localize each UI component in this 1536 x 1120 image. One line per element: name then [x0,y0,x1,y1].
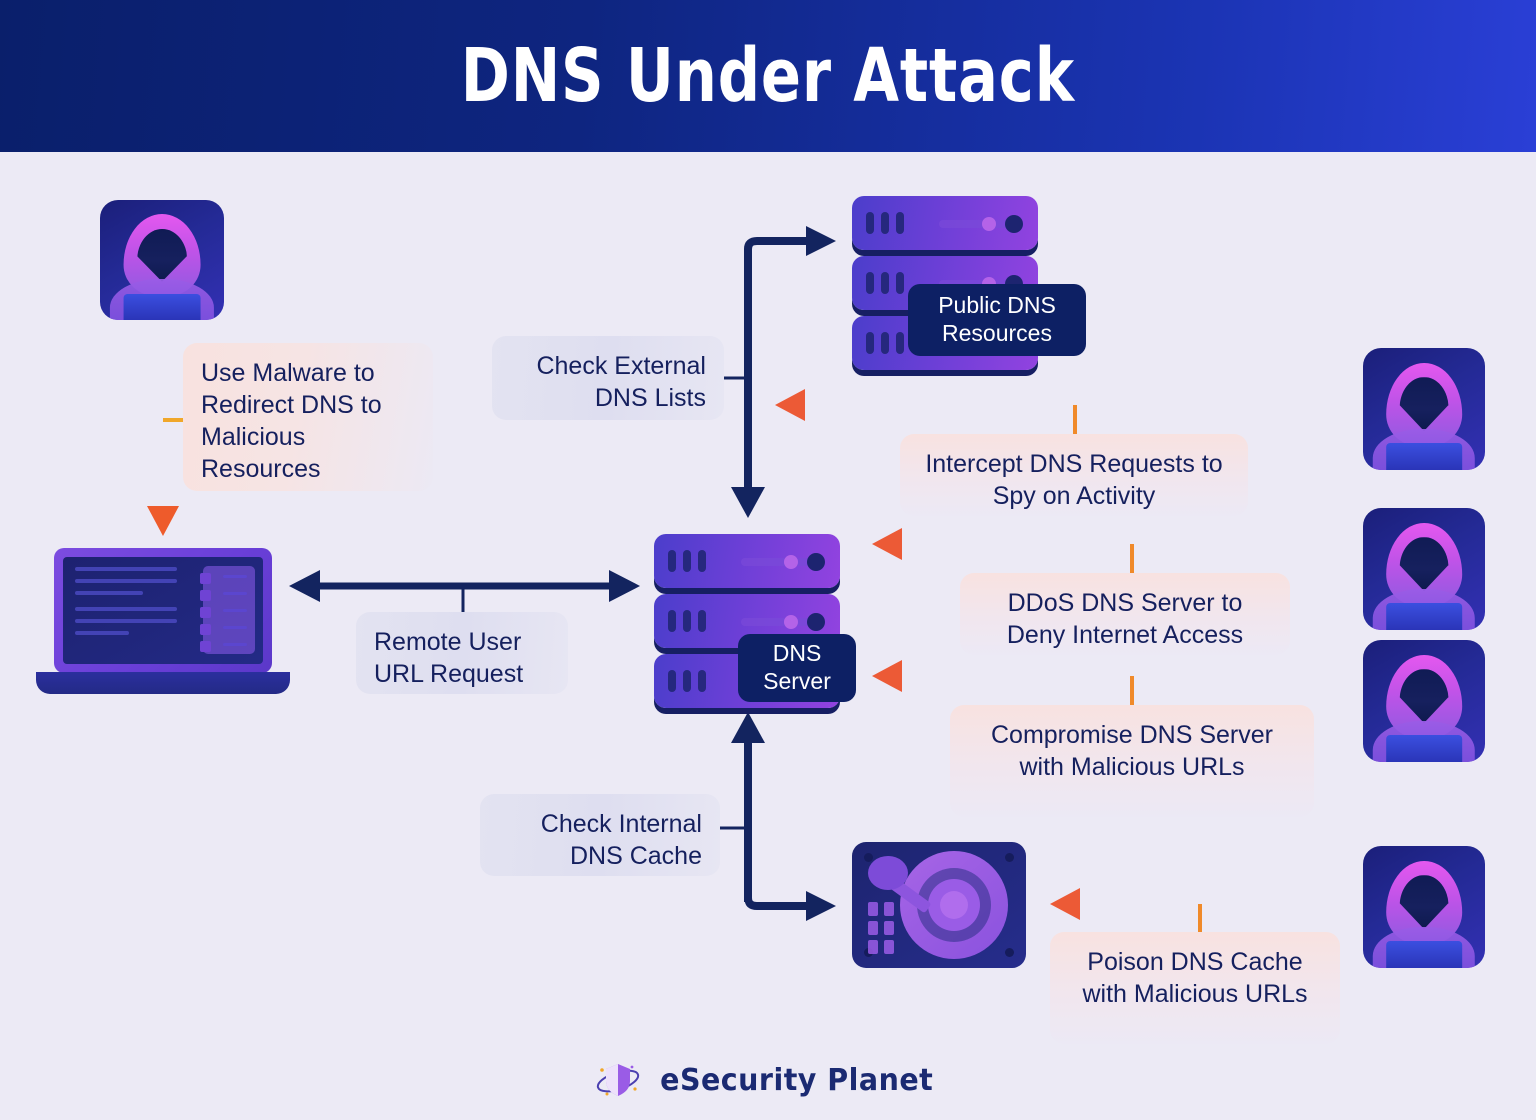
laptop-shape [124,294,201,320]
page-title: DNS Under Attack [461,33,1075,119]
arrow-poison-dns-cache [1050,888,1363,932]
laptop-base [36,672,290,694]
attacker-icon-ddos[interactable] [1363,508,1485,630]
arrow-compromise-dns-server [872,660,1363,705]
arrow-intercept-dns-requests [775,389,1363,434]
label-use-malware: Use Malware to Redirect DNS to Malicious… [183,343,433,491]
label-ddos-dns-server: DDoS DNS Server to Deny Internet Access [960,573,1290,655]
arrow-remote-user-url-request [289,570,640,614]
label-check-internal-cache: Check Internal DNS Cache [480,794,720,876]
dns-cache-disk-icon[interactable] [852,842,1026,968]
footer-brand: eSecurity Planet [660,1063,933,1098]
label-intercept-dns-requests: Intercept DNS Requests to Spy on Activit… [900,434,1248,516]
attacker-icon-intercept[interactable] [1363,348,1485,470]
attacker-icon-poison[interactable] [1363,846,1485,968]
header-banner: DNS Under Attack [0,0,1536,152]
arrow-check-external-dns [716,226,836,518]
label-remote-user-url-request: Remote User URL Request [356,612,568,694]
attacker-icon-compromise[interactable] [1363,640,1485,762]
arrow-check-internal-cache [716,712,836,921]
disk-indicator-bars [868,902,894,954]
public-dns-label-chip: Public DNS Resources [908,284,1086,356]
shield-orbit-icon [595,1058,641,1102]
disk-actuator-pivot [868,856,908,890]
laptop-screen [63,557,263,664]
footer: eSecurity Planet [0,1058,1536,1102]
arrow-ddos-dns-server [872,528,1363,573]
label-poison-dns-cache: Poison DNS Cache with Malicious URLs [1050,932,1340,1044]
user-laptop-icon[interactable] [36,548,290,698]
label-check-external-dns: Check External DNS Lists [492,336,724,420]
laptop-lid [54,548,272,673]
dns-server-label-chip: DNS Server [738,634,856,702]
attacker-icon-top[interactable] [100,200,224,320]
label-compromise-dns-server: Compromise DNS Server with Malicious URL… [950,705,1314,817]
infographic-canvas: DNS Under Attack [0,0,1536,1120]
